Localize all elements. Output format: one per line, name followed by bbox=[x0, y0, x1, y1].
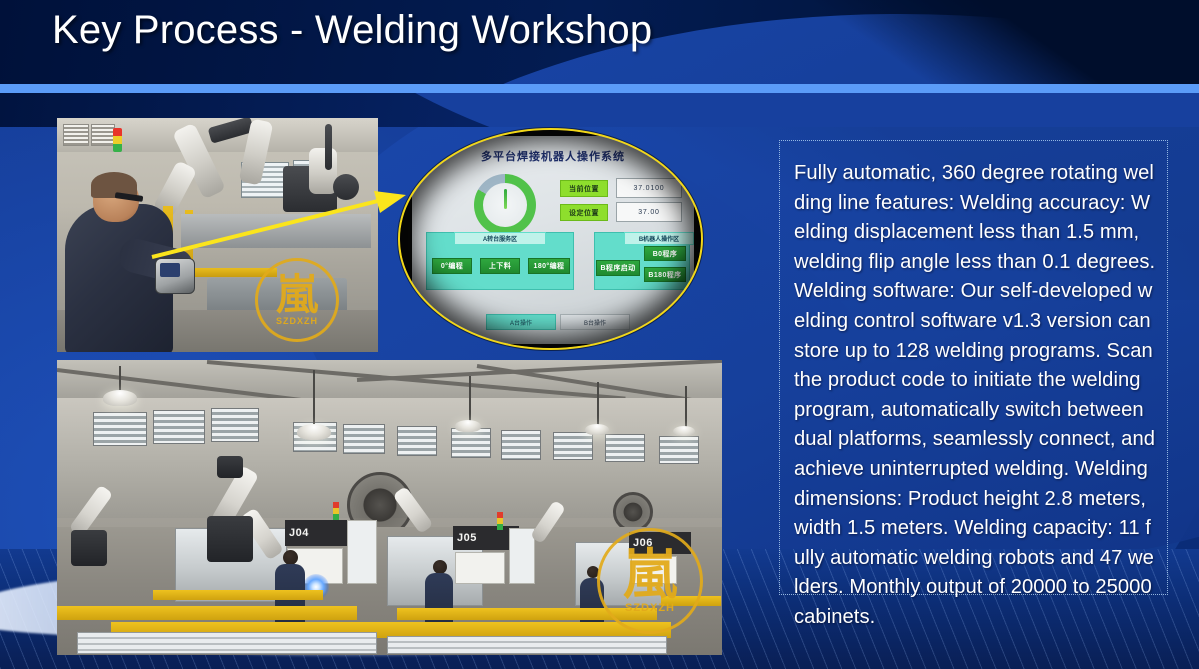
wall-window bbox=[553, 432, 593, 460]
wall-fan bbox=[613, 492, 653, 532]
pendant-lamp bbox=[585, 424, 609, 435]
hmi-label-set-position: 设定位置 bbox=[560, 204, 608, 221]
robot-joint bbox=[217, 456, 243, 478]
wall-window bbox=[211, 408, 259, 442]
description-text: Fully automatic, 360 degree rotating wel… bbox=[794, 159, 1157, 633]
hmi-panel-left-title: A转台服务区 bbox=[454, 232, 546, 245]
hmi-label-current-position: 当前位置 bbox=[560, 180, 608, 197]
hmi-gauge-needle bbox=[504, 189, 507, 209]
accent-stripe bbox=[0, 84, 1199, 93]
photo-workshop-floor: J04 J05 J06 bbox=[57, 360, 722, 655]
subheader-curve bbox=[250, 93, 1199, 127]
station-info-board bbox=[455, 552, 505, 584]
teach-pendant-screen bbox=[160, 263, 180, 277]
hmi-screen: 多平台焊接机器人操作系统 当前位置 37.0100 设定位置 37.00 A转台… bbox=[412, 136, 694, 344]
sheet-metal-stack bbox=[387, 636, 667, 654]
robot-base bbox=[207, 516, 253, 562]
cell-signal-tower bbox=[333, 502, 339, 520]
pendant-lamp bbox=[297, 424, 331, 440]
worker-head bbox=[433, 560, 447, 574]
wall-window bbox=[343, 424, 385, 454]
lamp-cord bbox=[597, 382, 599, 428]
worker-head bbox=[283, 550, 298, 565]
wall-window bbox=[153, 410, 205, 444]
header-dark-overlay bbox=[779, 0, 1199, 84]
cell-signal-tower bbox=[497, 512, 503, 530]
hmi-screenshot-oval: 多平台焊接机器人操作系统 当前位置 37.0100 设定位置 37.00 A转台… bbox=[398, 128, 703, 350]
hmi-panel-right-title: B机器人操作区 bbox=[624, 232, 694, 245]
wall-window bbox=[501, 430, 541, 460]
pendant-lamp bbox=[673, 426, 695, 436]
robot-cable bbox=[325, 124, 332, 170]
wall-vent bbox=[63, 124, 89, 146]
robot-motor bbox=[333, 174, 359, 200]
hmi-button-program-0[interactable]: 0°编程 bbox=[432, 258, 472, 274]
page-title: Key Process - Welding Workshop bbox=[52, 8, 652, 53]
wall-window bbox=[93, 412, 147, 446]
hmi-tab-a[interactable]: A台操作 bbox=[486, 314, 556, 330]
conveyor-rail bbox=[661, 596, 721, 606]
description-panel: Fully automatic, 360 degree rotating wel… bbox=[779, 140, 1168, 595]
hmi-gauge bbox=[474, 174, 536, 236]
lamp-cord bbox=[469, 376, 471, 424]
wall-vent bbox=[91, 124, 115, 146]
pendant-lamp bbox=[455, 420, 481, 432]
hmi-button-load-unload[interactable]: 上下料 bbox=[480, 258, 520, 274]
worker-head bbox=[587, 566, 599, 578]
pendant-lamp bbox=[103, 390, 137, 406]
hmi-tab-b[interactable]: B台操作 bbox=[560, 314, 630, 330]
conveyor-rail bbox=[153, 590, 323, 600]
station-photo-card bbox=[347, 520, 377, 584]
conveyor-rail bbox=[57, 606, 357, 620]
wall-window bbox=[605, 434, 645, 462]
hmi-gauge-face bbox=[483, 183, 527, 227]
slide-canvas: Key Process - Welding Workshop bbox=[0, 0, 1199, 669]
sheet-metal-stack bbox=[77, 632, 377, 654]
hmi-button-program-180[interactable]: 180°编程 bbox=[528, 258, 570, 274]
wall-window bbox=[659, 436, 699, 464]
wall-window bbox=[451, 428, 491, 458]
station-info-board bbox=[631, 556, 677, 584]
lamp-cord bbox=[685, 386, 687, 430]
signal-tower-light bbox=[113, 128, 122, 152]
hmi-button-b0-program[interactable]: B0程序 bbox=[644, 246, 686, 261]
photo-operator-robot: 嵐 SZDXZH bbox=[57, 118, 378, 352]
hmi-value-current-position[interactable]: 37.0100 bbox=[616, 178, 682, 198]
teach-pendant bbox=[155, 258, 195, 294]
conveyor-rail bbox=[397, 608, 657, 620]
work-bench bbox=[181, 214, 371, 248]
station-sign-j06: J06 bbox=[629, 532, 691, 554]
hmi-title: 多平台焊接机器人操作系统 bbox=[412, 148, 694, 164]
hmi-value-set-position[interactable]: 37.00 bbox=[616, 202, 682, 222]
robot-base bbox=[71, 530, 107, 566]
lamp-cord bbox=[313, 370, 315, 428]
hmi-button-b-start[interactable]: B程序启动 bbox=[596, 260, 640, 276]
wall-window bbox=[397, 426, 437, 456]
hmi-button-b180-program[interactable]: B180程序 bbox=[644, 267, 686, 282]
